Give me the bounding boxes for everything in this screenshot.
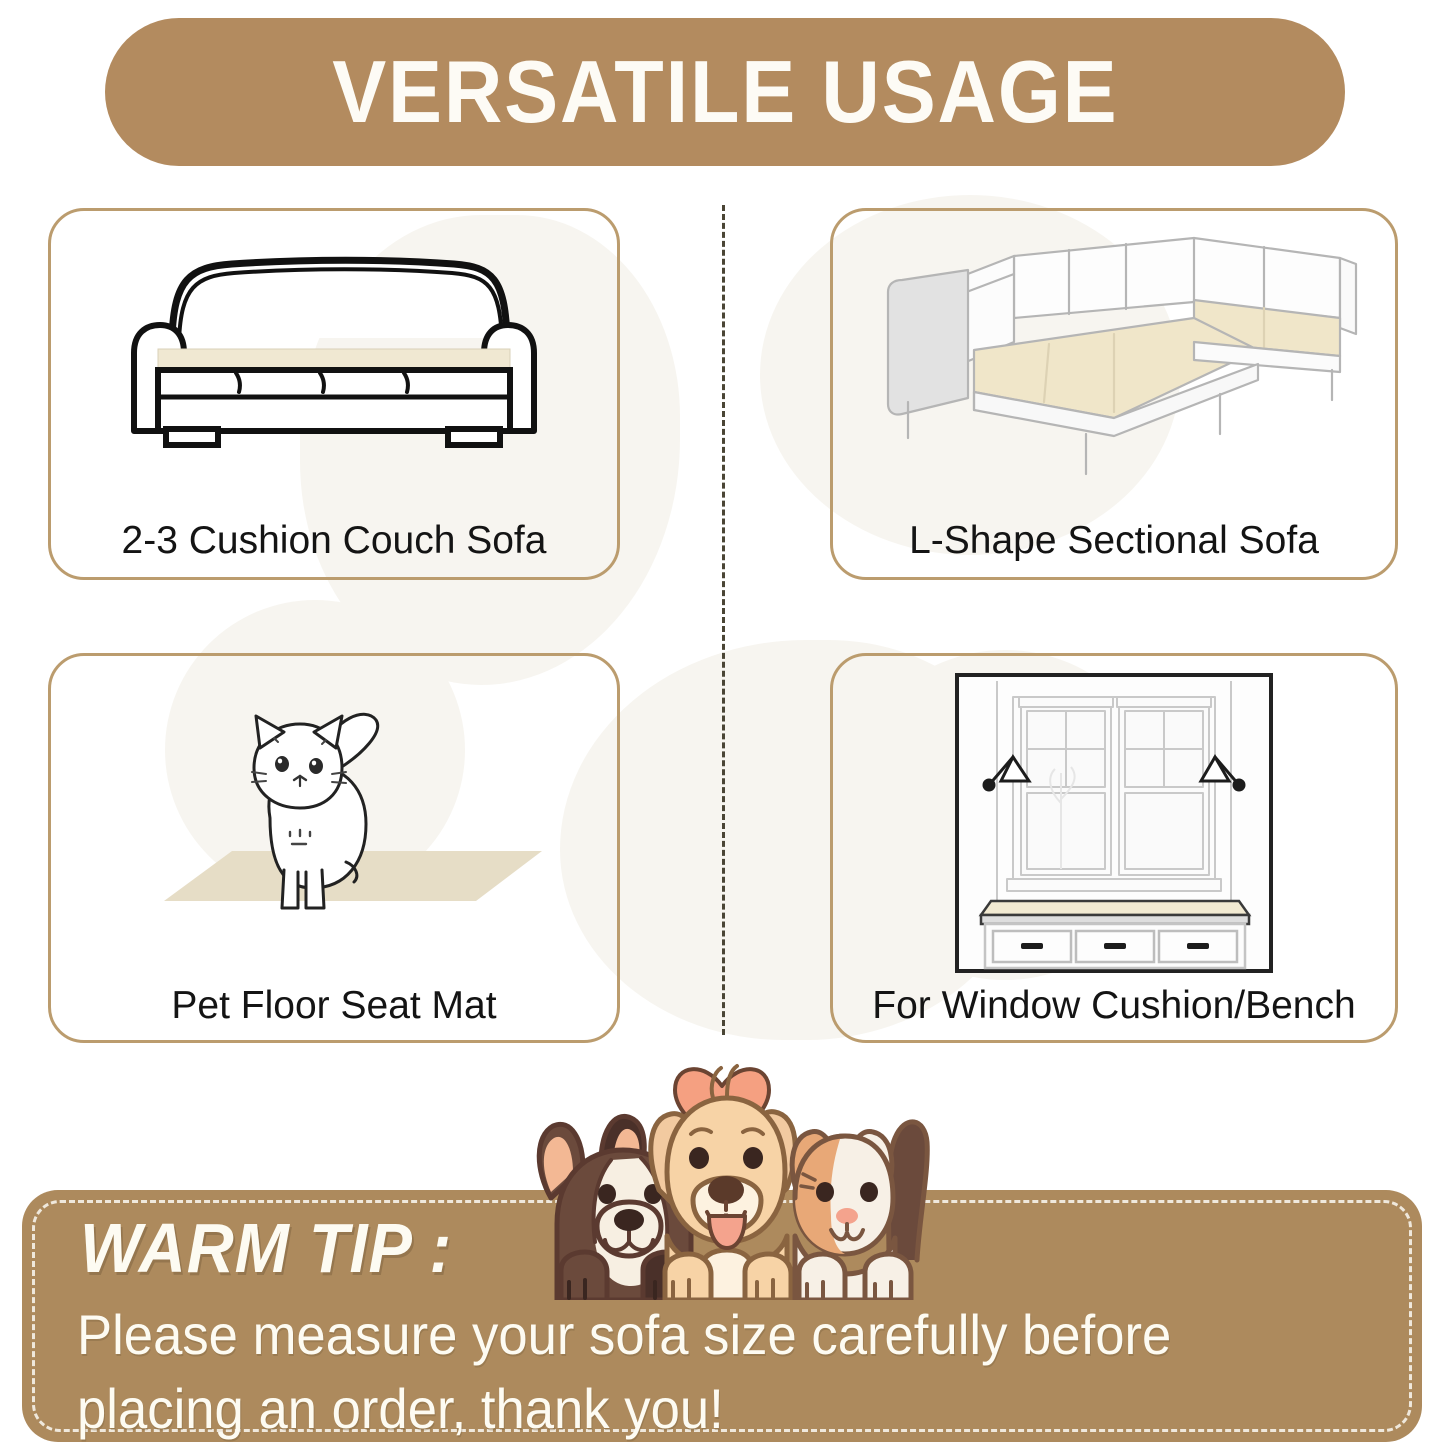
warm-tip-message: Please measure your sofa size carefully … [77, 1298, 1299, 1446]
usage-card-label: 2-3 Cushion Couch Sofa [51, 519, 617, 563]
usage-card-pet-floor-mat[interactable]: Pet Floor Seat Mat [48, 653, 620, 1043]
warm-tip-heading: WARM TIP : [80, 1208, 452, 1288]
cat-on-mat-icon [51, 666, 617, 966]
infographic-page: VERSATILE USAGE [0, 0, 1445, 1451]
usage-card-label: L-Shape Sectional Sofa [833, 519, 1395, 563]
l-shape-sectional-sofa-icon [833, 211, 1395, 493]
usage-card-window-bench[interactable]: For Window Cushion/Bench [830, 653, 1398, 1043]
vertical-dashed-divider [722, 205, 725, 1035]
warm-tip-line-2: placing an order, thank you! [77, 1372, 1299, 1446]
header-banner: VERSATILE USAGE [105, 18, 1345, 166]
page-title: VERSATILE USAGE [332, 41, 1118, 143]
three-pets-icon [495, 1010, 950, 1300]
window-bench-icon [833, 668, 1395, 978]
warm-tip-line-1: Please measure your sofa size carefully … [77, 1298, 1299, 1372]
couch-sofa-icon [51, 211, 617, 493]
usage-card-l-shape-sectional[interactable]: L-Shape Sectional Sofa [830, 208, 1398, 580]
usage-card-couch-sofa[interactable]: 2-3 Cushion Couch Sofa [48, 208, 620, 580]
